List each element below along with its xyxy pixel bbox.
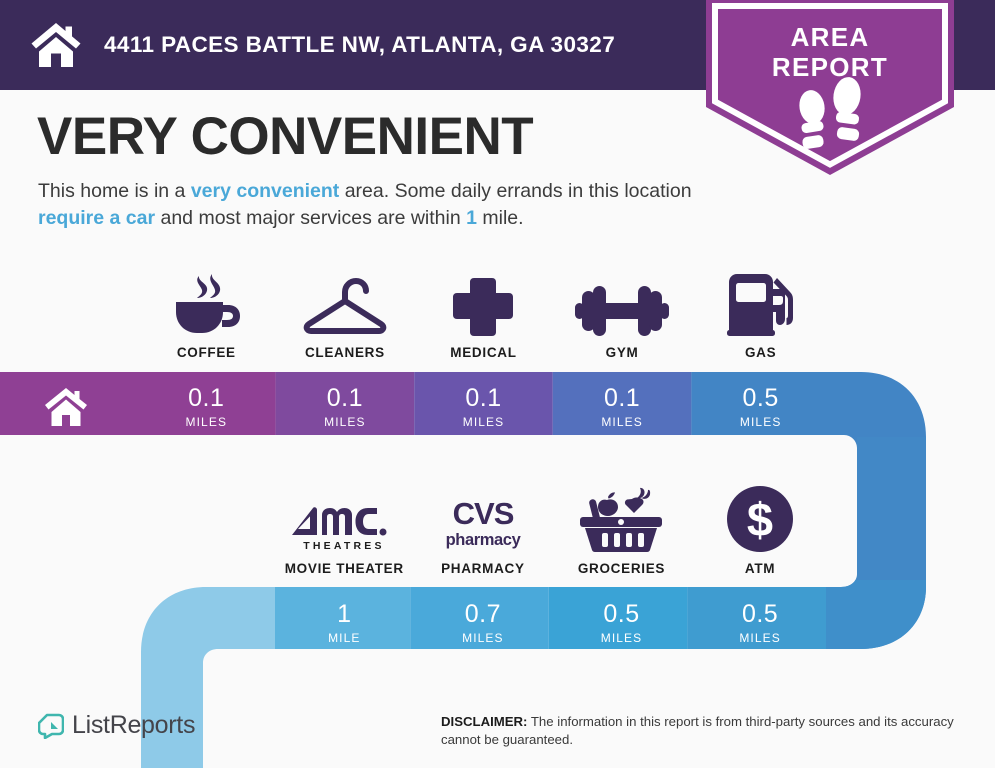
distance-unit: MILES bbox=[463, 415, 505, 429]
cvs-pharmacy-logo: CVS pharmacy bbox=[435, 482, 531, 552]
summary-highlight-convenience: very convenient bbox=[191, 180, 339, 202]
distance-unit: MILE bbox=[328, 631, 360, 645]
amc-theatres-logo: THEATRES bbox=[292, 482, 396, 552]
gas-pump-icon bbox=[727, 274, 795, 336]
distance-number: 0.1 bbox=[188, 385, 224, 412]
distance-unit: MILES bbox=[601, 631, 643, 645]
area-report-page: 4411 PACES BATTLE NW, ATLANTA, GA 30327 … bbox=[0, 0, 995, 768]
amenity-label: GAS bbox=[745, 345, 776, 360]
distance-number: 0.1 bbox=[327, 385, 363, 412]
amenity-label: CLEANERS bbox=[305, 345, 385, 360]
amenity-label: COFFEE bbox=[177, 345, 236, 360]
summary-part-3: and most major services are within bbox=[155, 207, 466, 229]
distance-values-row-1: 0.1 MILES 0.1 MILES 0.1 MILES 0.1 MILES … bbox=[137, 372, 830, 442]
amenity-medical: MEDICAL bbox=[414, 262, 553, 360]
medical-cross-icon bbox=[453, 274, 513, 336]
distance-unit: MILES bbox=[739, 631, 781, 645]
amenity-label: PHARMACY bbox=[441, 561, 525, 576]
amenity-movie-theater: THEATRES MOVIE THEATER bbox=[275, 470, 414, 576]
amenity-coffee: COFFEE bbox=[137, 262, 276, 360]
amenity-label: GROCERIES bbox=[578, 561, 665, 576]
property-address: 4411 PACES BATTLE NW, ATLANTA, GA 30327 bbox=[104, 32, 615, 58]
area-report-badge: AREA REPORT bbox=[706, 0, 954, 175]
distance-number: 0.5 bbox=[742, 601, 778, 628]
distance-number: 0.1 bbox=[465, 385, 501, 412]
dumbbell-icon bbox=[575, 274, 669, 336]
distance-unit: MILES bbox=[186, 415, 228, 429]
distance-number: 0.1 bbox=[604, 385, 640, 412]
svg-text:CVS: CVS bbox=[453, 498, 514, 531]
distance-value-pharmacy: 0.7 MILES bbox=[414, 588, 553, 658]
distance-unit: MILES bbox=[740, 415, 782, 429]
amenity-gas: GAS bbox=[691, 262, 830, 360]
distance-value-medical: 0.1 MILES bbox=[414, 372, 553, 442]
header-content: 4411 PACES BATTLE NW, ATLANTA, GA 30327 bbox=[30, 0, 615, 90]
distance-value-groceries: 0.5 MILES bbox=[552, 588, 691, 658]
shopping-basket-icon bbox=[580, 482, 662, 552]
distance-value-atm: 0.5 MILES bbox=[691, 588, 830, 658]
amenity-label: MOVIE THEATER bbox=[285, 561, 404, 576]
summary-text: This home is in a very convenient area. … bbox=[38, 178, 708, 232]
amenity-label: MEDICAL bbox=[450, 345, 516, 360]
svg-text:THEATRES: THEATRES bbox=[304, 540, 385, 552]
summary-part-2: area. Some daily errands in this locatio… bbox=[339, 180, 691, 202]
amenity-label: GYM bbox=[606, 345, 639, 360]
disclaimer-label: DISCLAIMER: bbox=[441, 714, 527, 729]
listreports-tag-icon bbox=[38, 713, 64, 739]
distance-number: 0.5 bbox=[743, 385, 779, 412]
distance-value-cleaners: 0.1 MILES bbox=[276, 372, 415, 442]
amenity-pharmacy: CVS pharmacy PHARMACY bbox=[414, 470, 553, 576]
disclaimer: DISCLAIMER: The information in this repo… bbox=[441, 713, 961, 749]
distance-values-row-2: 1 MILE 0.7 MILES 0.5 MILES 0.5 MILES bbox=[275, 588, 829, 658]
dollar-circle-icon: $ bbox=[727, 482, 793, 552]
distance-value-gym: 0.1 MILES bbox=[553, 372, 692, 442]
amenity-gym: GYM bbox=[553, 262, 692, 360]
amenity-atm: $ ATM bbox=[691, 470, 830, 576]
clothes-hanger-icon bbox=[302, 274, 388, 336]
amenity-label: ATM bbox=[745, 561, 775, 576]
page-title: VERY CONVENIENT bbox=[37, 108, 533, 166]
summary-highlight-distance: 1 bbox=[466, 207, 477, 229]
listreports-logo-text: ListReports bbox=[72, 711, 195, 740]
distance-value-coffee: 0.1 MILES bbox=[137, 372, 276, 442]
distance-number: 0.5 bbox=[603, 601, 639, 628]
summary-part-4: mile. bbox=[477, 207, 524, 229]
distance-unit: MILES bbox=[601, 415, 643, 429]
bar-segment-elbow-lower-right bbox=[826, 580, 946, 660]
distance-unit: MILES bbox=[324, 415, 366, 429]
svg-text:$: $ bbox=[747, 493, 773, 546]
distance-value-gas: 0.5 MILES bbox=[691, 372, 830, 442]
distance-value-movie-theater: 1 MILE bbox=[275, 588, 414, 658]
distance-unit: MILES bbox=[462, 631, 504, 645]
amenity-icons-row-1: COFFEE CLEANERS MEDICAL bbox=[137, 262, 830, 360]
svg-text:pharmacy: pharmacy bbox=[446, 531, 522, 549]
summary-highlight-car: require a car bbox=[38, 207, 155, 229]
amenity-cleaners: CLEANERS bbox=[276, 262, 415, 360]
home-icon bbox=[30, 21, 82, 69]
amenity-groceries: GROCERIES bbox=[552, 470, 691, 576]
distance-number: 0.7 bbox=[465, 601, 501, 628]
listreports-logo[interactable]: ListReports bbox=[38, 711, 195, 740]
summary-part-1: This home is in a bbox=[38, 180, 191, 202]
coffee-cup-icon bbox=[170, 274, 242, 336]
distance-number: 1 bbox=[337, 601, 351, 628]
origin-home-icon bbox=[44, 387, 88, 427]
amenity-icons-row-2: THEATRES MOVIE THEATER CVS pharmacy PHAR… bbox=[275, 470, 829, 576]
